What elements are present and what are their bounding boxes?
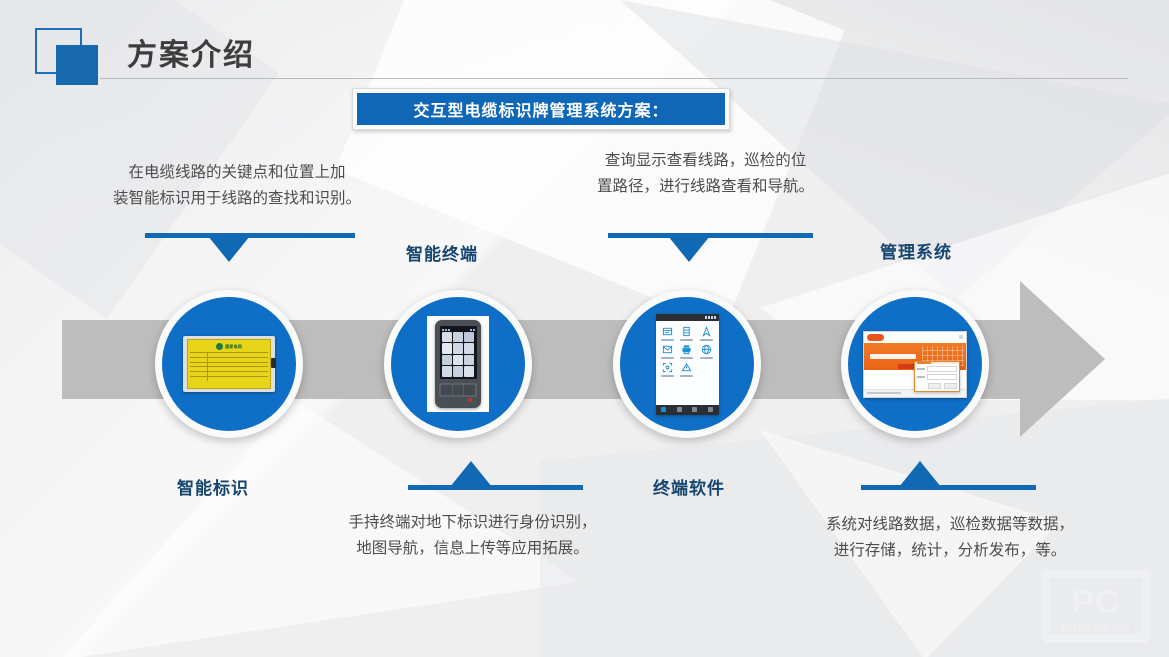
app-icon-scan (659, 362, 677, 377)
app-icon-database (678, 326, 696, 341)
android-app-screen-icon (656, 314, 719, 415)
connector-up-smart-terminal (408, 459, 583, 491)
connector-down-terminal-software (608, 233, 813, 265)
app-icon-globe (697, 344, 715, 359)
flow-arrow-head-icon (1020, 281, 1105, 437)
watermark-mark: PC (1041, 585, 1151, 619)
app-icon-list (659, 326, 677, 341)
app-icon-mail (659, 344, 677, 359)
page-title: 方案介绍 (127, 30, 255, 74)
app-icon-warning (678, 362, 696, 377)
node-label-smart-terminal: 智能终端 (406, 240, 478, 265)
login-password-field[interactable] (917, 374, 957, 380)
login-submit-button[interactable] (928, 383, 941, 389)
tag-chip-icon (271, 358, 276, 368)
title-divider (100, 78, 1128, 79)
banner-title: 交互型电缆标识牌管理系统方案： (357, 93, 725, 125)
description-smart-tag: 在电缆线路的关键点和位置上加 装智能标识用于线路的查找和识别。 (72, 160, 402, 212)
description-terminal-software: 查询显示查看线路，巡检的位 置路径，进行线路查看和导航。 (548, 148, 863, 200)
node-label-management-system: 管理系统 (880, 238, 952, 263)
connector-down-smart-tag (145, 233, 355, 265)
description-management-system: 系统对线路数据，巡检数据等数据， 进行存储，统计，分析发布，等。 (770, 512, 1130, 564)
connector-up-management-system (861, 459, 1036, 491)
slide-canvas: 方案介绍 交互型电缆标识牌管理系统方案： 在电缆线路的关键点和位置上加 装智能标… (0, 0, 1169, 657)
watermark: PC PHPCMS.CN (1041, 569, 1151, 643)
web-main-area (864, 370, 966, 389)
description-smart-terminal: 手持终端对地下标识进行身份识别， 地图导航，信息上传等应用拓展。 (300, 510, 645, 562)
login-dialog (914, 361, 960, 392)
web-management-login-icon (863, 331, 967, 398)
node-smart-tag[interactable]: 国家电网 (155, 290, 303, 438)
app-icon-printer (678, 344, 696, 359)
node-label-terminal-software: 终端软件 (653, 474, 725, 499)
square-filled-icon (56, 45, 98, 85)
node-smart-terminal[interactable] (384, 290, 532, 438)
login-username-field[interactable] (917, 366, 957, 372)
close-icon (959, 335, 963, 339)
login-cancel-button[interactable] (944, 383, 957, 389)
node-label-smart-tag: 智能标识 (177, 474, 249, 499)
android-nav-bar (656, 405, 719, 415)
banner-frame: 交互型电缆标识牌管理系统方案： (352, 88, 730, 130)
yellow-cable-tag-icon: 国家电网 (183, 336, 275, 392)
handheld-pda-icon (427, 316, 489, 412)
app-icon-navigation (697, 326, 715, 341)
node-management-system[interactable] (841, 290, 989, 438)
web-brand-logo (867, 334, 884, 341)
node-terminal-software[interactable] (613, 290, 761, 438)
